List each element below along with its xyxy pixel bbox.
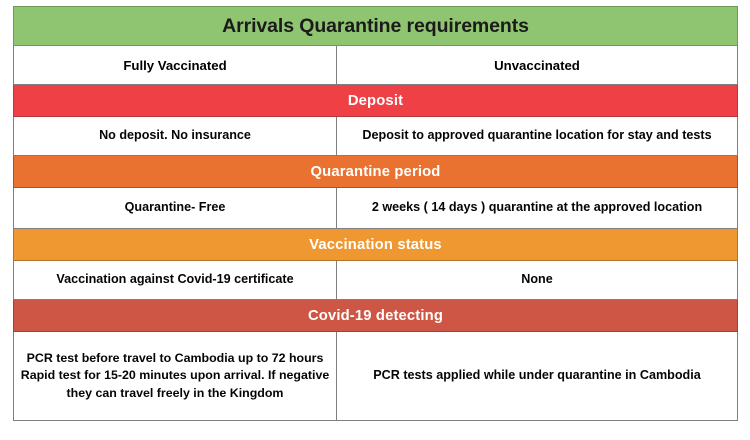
table-row: Quarantine- Free 2 weeks ( 14 days ) qua… — [14, 188, 738, 229]
section-label-quarantine-period: Quarantine period — [14, 156, 738, 188]
column-header-unvaccinated: Unvaccinated — [337, 46, 738, 85]
column-header-row: Fully Vaccinated Unvaccinated — [14, 46, 738, 85]
cell-quarantine-vaccinated: Quarantine- Free — [14, 188, 337, 229]
cell-vaccination-status-vaccinated: Vaccination against Covid-19 certificate — [14, 261, 337, 300]
section-band-quarantine-period: Quarantine period — [14, 156, 738, 188]
detecting-line-2: Rapid test for 15-20 minutes upon arriva… — [14, 367, 336, 402]
detecting-line-1: PCR test before travel to Cambodia up to… — [14, 350, 336, 368]
page-title: Arrivals Quarantine requirements — [14, 7, 738, 46]
column-header-fully-vaccinated: Fully Vaccinated — [14, 46, 337, 85]
table-row: PCR test before travel to Cambodia up to… — [14, 332, 738, 421]
section-band-deposit: Deposit — [14, 85, 738, 117]
cell-detecting-vaccinated-lines: PCR test before travel to Cambodia up to… — [14, 350, 336, 403]
cell-deposit-vaccinated: No deposit. No insurance — [14, 117, 337, 156]
section-band-vaccination-status: Vaccination status — [14, 229, 738, 261]
section-label-deposit: Deposit — [14, 85, 738, 117]
table-row: Vaccination against Covid-19 certificate… — [14, 261, 738, 300]
table-title-row: Arrivals Quarantine requirements — [14, 7, 738, 46]
cell-quarantine-unvaccinated: 2 weeks ( 14 days ) quarantine at the ap… — [337, 188, 738, 229]
cell-detecting-vaccinated: PCR test before travel to Cambodia up to… — [14, 332, 337, 421]
cell-deposit-unvaccinated: Deposit to approved quarantine location … — [337, 117, 738, 156]
table-row: No deposit. No insurance Deposit to appr… — [14, 117, 738, 156]
section-band-covid-detecting: Covid-19 detecting — [14, 300, 738, 332]
section-label-vaccination-status: Vaccination status — [14, 229, 738, 261]
page-root: Arrivals Quarantine requirements Fully V… — [0, 0, 750, 440]
section-label-covid-detecting: Covid-19 detecting — [14, 300, 738, 332]
quarantine-requirements-table: Arrivals Quarantine requirements Fully V… — [13, 6, 737, 421]
cell-vaccination-status-unvaccinated: None — [337, 261, 738, 300]
cell-detecting-unvaccinated: PCR tests applied while under quarantine… — [337, 332, 738, 421]
requirements-table: Arrivals Quarantine requirements Fully V… — [13, 6, 738, 421]
